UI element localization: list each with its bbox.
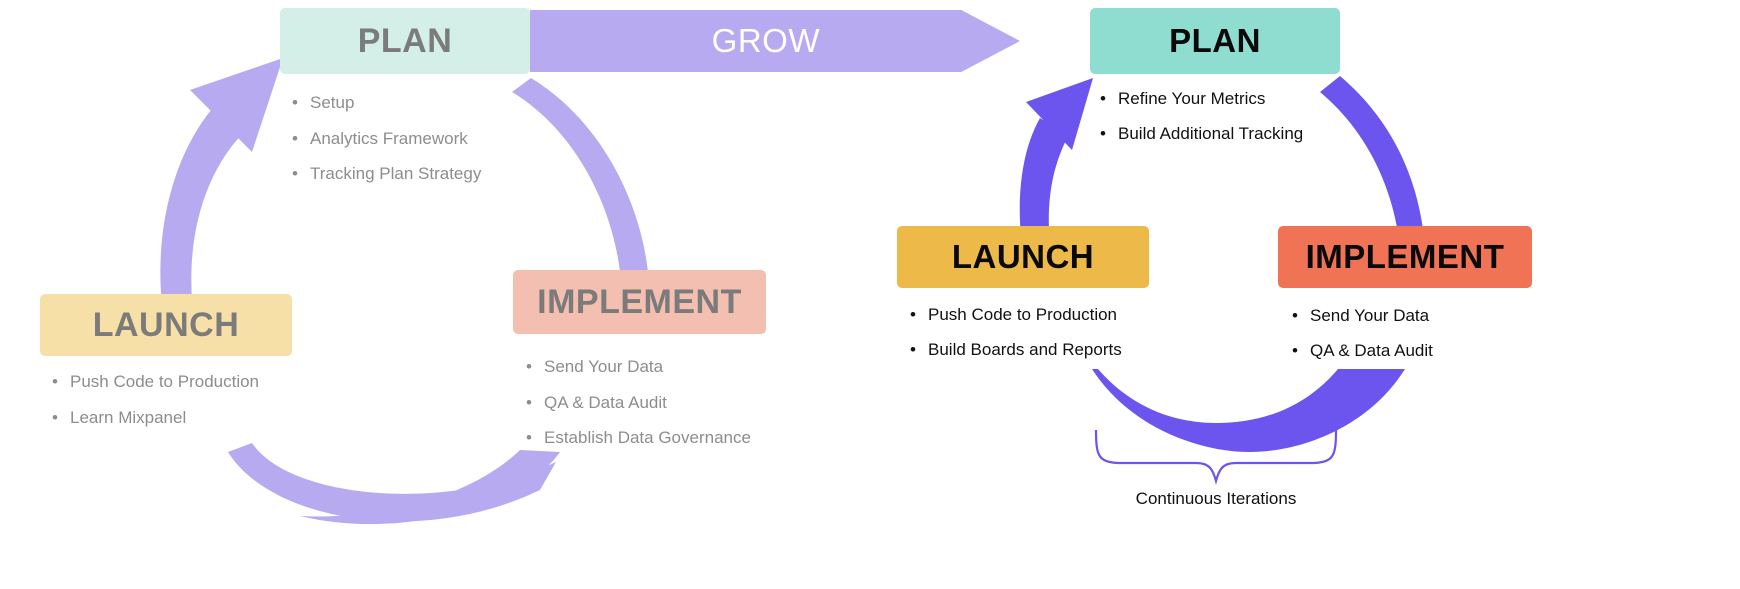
bullet-text: Tracking Plan Strategy [310,165,481,184]
list-item: • Send Your Data [1292,307,1592,326]
bullet-dot: • [526,394,544,413]
right-plan-title: PLAN [1169,22,1261,60]
bullet-text: QA & Data Audit [1310,342,1433,361]
bullet-text: Build Additional Tracking [1118,125,1303,144]
list-item: • QA & Data Audit [526,394,846,413]
left-launch-box[interactable]: LAUNCH [40,294,292,356]
list-item: • QA & Data Audit [1292,342,1592,361]
bullet-text: Push Code to Production [928,306,1117,325]
list-item: • Send Your Data [526,358,846,377]
left-launch-bullets: • Push Code to Production • Learn Mixpan… [52,373,352,444]
bullet-text: Build Boards and Reports [928,341,1122,360]
left-plan-bullets: • Setup • Analytics Framework • Tracking… [292,94,592,201]
diagram-canvas: GROW PLAN • Setup • Analytics Framework … [0,0,1740,589]
bullet-text: QA & Data Audit [544,394,667,413]
right-implement-box[interactable]: IMPLEMENT [1278,226,1532,288]
left-plan-box[interactable]: PLAN [280,8,530,74]
right-launch-bullets: • Push Code to Production • Build Boards… [910,306,1230,375]
right-launch-title: LAUNCH [952,238,1094,276]
left-implement-bullets: • Send Your Data • QA & Data Audit • Est… [526,358,846,465]
right-implement-title: IMPLEMENT [1306,238,1505,276]
bullet-text: Send Your Data [1310,307,1429,326]
left-launch-title: LAUNCH [93,306,240,345]
right-plan-bullets: • Refine Your Metrics • Build Additional… [1100,90,1420,159]
bullet-dot: • [292,94,310,113]
bullet-dot: • [526,358,544,377]
bullet-dot: • [292,165,310,184]
left-arrow-head-up [190,58,283,152]
list-item: • Setup [292,94,592,113]
grow-banner: GROW [530,10,1020,72]
bullet-dot: • [1100,125,1118,144]
bullet-text: Establish Data Governance [544,429,751,448]
list-item: • Tracking Plan Strategy [292,165,592,184]
list-item: • Refine Your Metrics [1100,90,1420,109]
bullet-dot: • [1292,307,1310,326]
right-arrow-head-up [1026,78,1093,150]
bullet-dot: • [526,429,544,448]
bullet-dot: • [1292,342,1310,361]
left-implement-title: IMPLEMENT [537,283,742,322]
left-arc-implement-to-launch [300,450,560,524]
bullet-text: Push Code to Production [70,373,259,392]
right-implement-bullets: • Send Your Data • QA & Data Audit [1292,307,1592,376]
left-implement-box[interactable]: IMPLEMENT [513,270,766,334]
bullet-dot: • [910,306,928,325]
bullet-dot: • [292,130,310,149]
list-item: • Establish Data Governance [526,429,846,448]
left-arc-bottom-body [228,443,556,521]
bullet-text: Send Your Data [544,358,663,377]
grow-banner-label: GROW [712,22,820,60]
list-item: • Build Additional Tracking [1100,125,1420,144]
left-arc-launch-to-plan-body [160,98,248,326]
continuous-iterations-label: Continuous Iterations [1066,489,1366,509]
bullet-text: Analytics Framework [310,130,468,149]
list-item: • Build Boards and Reports [910,341,1230,360]
bullet-text: Refine Your Metrics [1118,90,1265,109]
right-plan-box[interactable]: PLAN [1090,8,1340,74]
list-item: • Push Code to Production [910,306,1230,325]
bullet-dot: • [1100,90,1118,109]
left-plan-title: PLAN [358,22,453,61]
continuous-iterations-brace [1096,430,1336,481]
bullet-dot: • [910,341,928,360]
bullet-text: Learn Mixpanel [70,409,186,428]
right-launch-box[interactable]: LAUNCH [897,226,1149,288]
bullet-dot: • [52,373,70,392]
list-item: • Push Code to Production [52,373,352,392]
bullet-text: Setup [310,94,354,113]
bullet-dot: • [52,409,70,428]
list-item: • Analytics Framework [292,130,592,149]
right-arc-implement-to-launch [1092,369,1405,452]
list-item: • Learn Mixpanel [52,409,352,428]
